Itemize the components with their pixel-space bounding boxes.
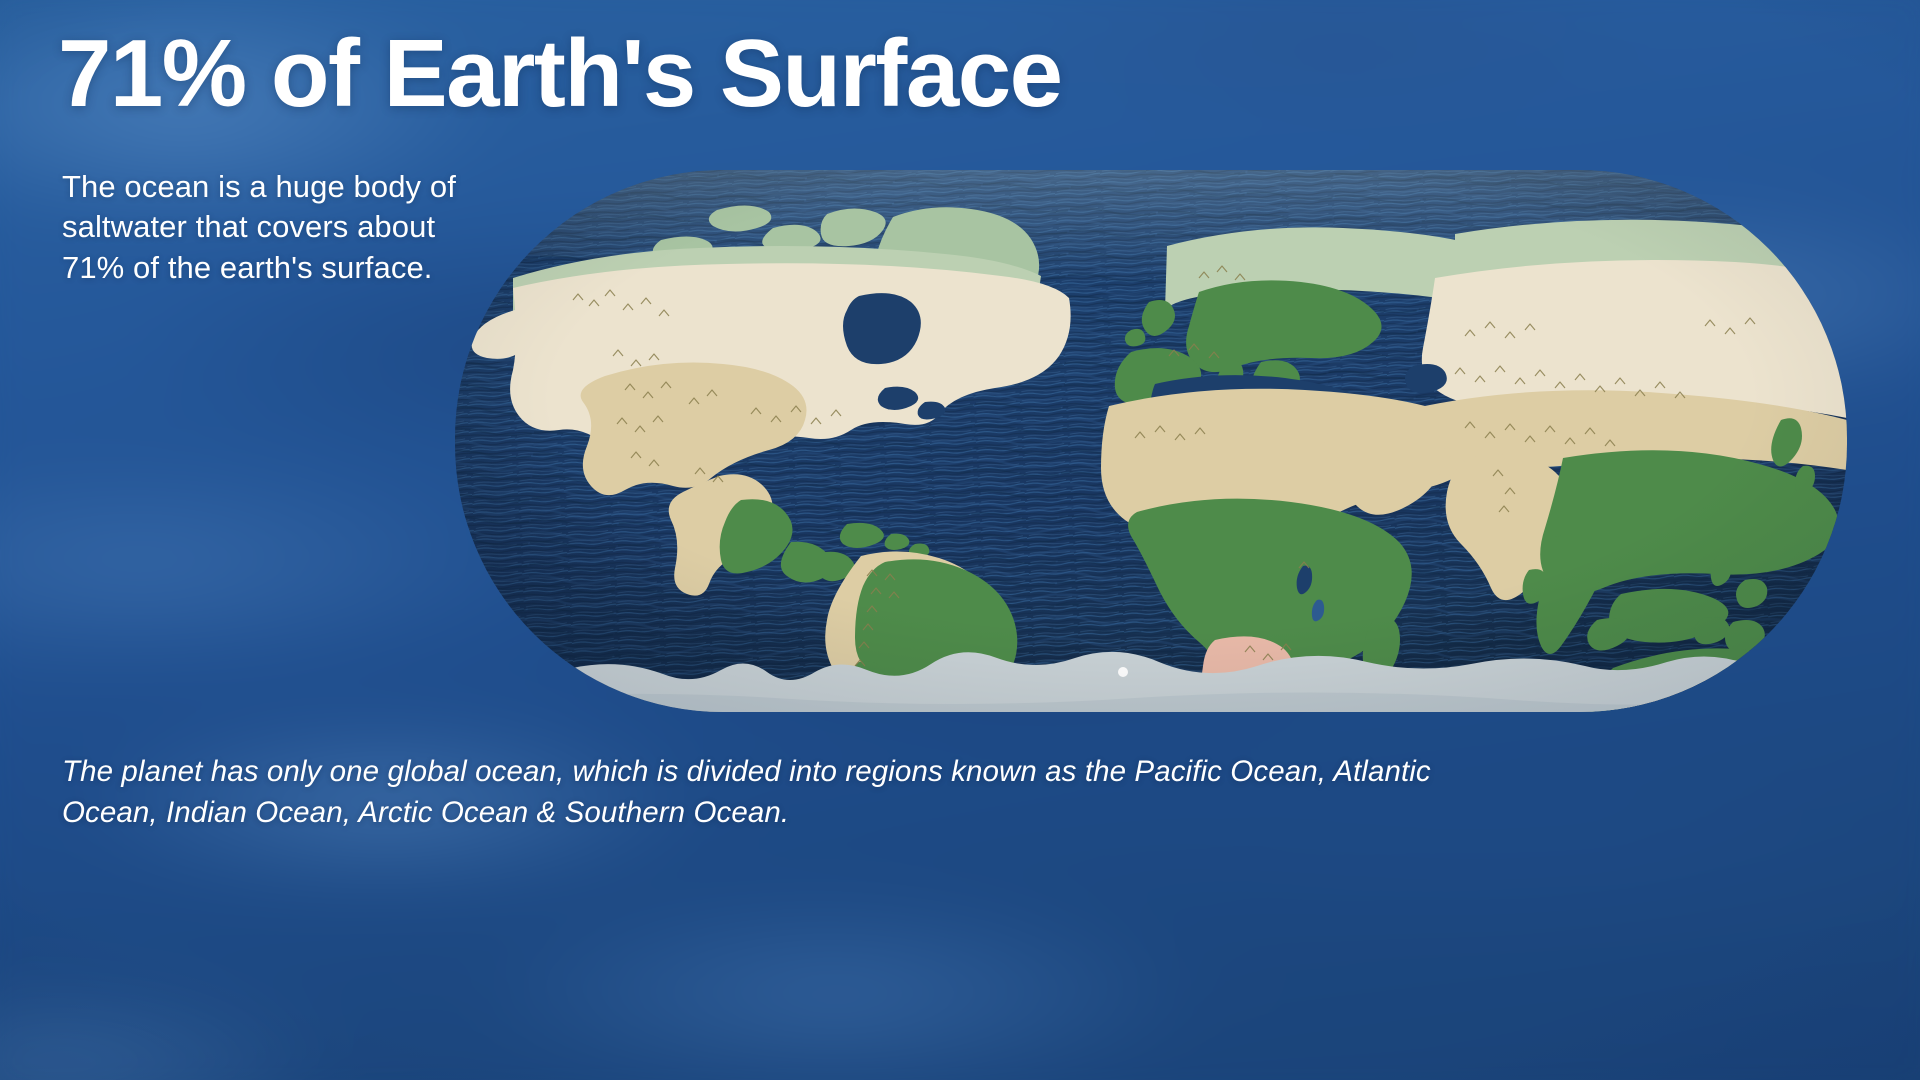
world-map [455,170,1847,712]
map-vignette [455,170,1847,712]
world-map-illustration [455,170,1847,712]
footnote-caption: The planet has only one global ocean, wh… [62,752,1462,833]
page-title: 71% of Earth's Surface [58,22,1062,126]
intro-paragraph: The ocean is a huge body of saltwater th… [62,167,462,288]
